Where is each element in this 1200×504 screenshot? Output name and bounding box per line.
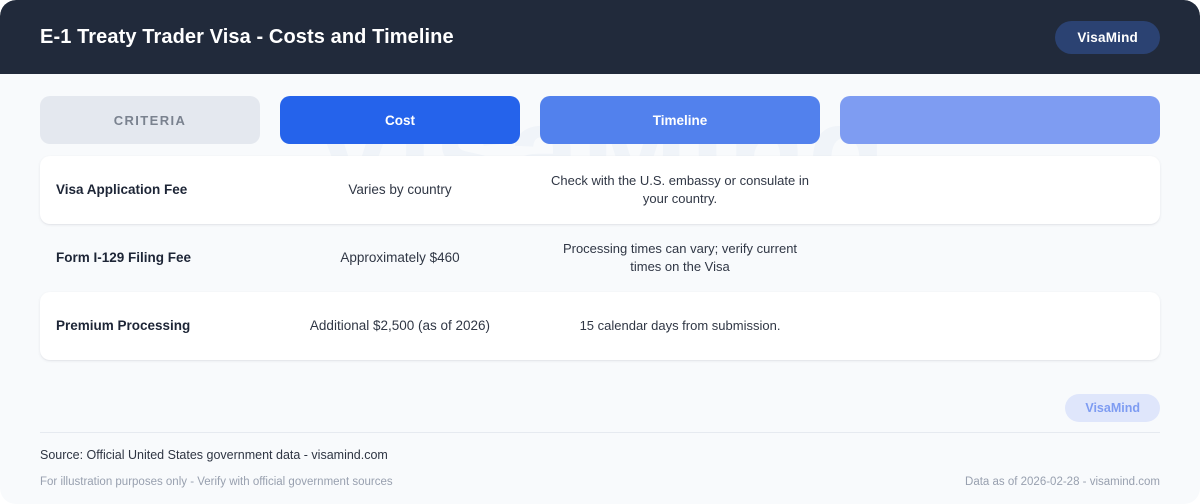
cell-timeline: Check with the U.S. embassy or consulate… — [540, 162, 820, 218]
column-header-timeline[interactable]: Timeline — [540, 96, 820, 144]
column-header-extra-label — [840, 96, 1160, 144]
footer-divider — [40, 432, 1160, 433]
column-header-timeline-label: Timeline — [540, 96, 820, 144]
cell-timeline: Processing times can vary; verify curren… — [540, 230, 820, 286]
table-row: Form I-129 Filing Fee Approximately $460… — [40, 224, 1160, 292]
footer-source-text: Source: Official United States governmen… — [40, 448, 1160, 462]
cell-timeline: 15 calendar days from submission. — [540, 298, 820, 354]
cell-criteria: Visa Application Fee — [40, 162, 260, 218]
cell-criteria: Premium Processing — [40, 298, 260, 354]
page-footer: VisaMind Source: Official United States … — [0, 394, 1200, 504]
column-header-criteria[interactable]: CRITERIA — [40, 96, 260, 144]
footer-data-date: Data as of 2026-02-28 - visamind.com — [965, 476, 1160, 488]
table-row: Visa Application Fee Varies by country C… — [40, 156, 1160, 224]
column-header-cost[interactable]: Cost — [280, 96, 520, 144]
cell-extra — [840, 230, 1160, 286]
cell-criteria: Form I-129 Filing Fee — [40, 230, 260, 286]
cell-cost: Additional $2,500 (as of 2026) — [280, 298, 520, 354]
cell-extra — [840, 298, 1160, 354]
cell-cost: Varies by country — [280, 162, 520, 218]
cell-extra — [840, 162, 1160, 218]
visa-comparison-page: VisaMind E-1 Treaty Trader Visa - Costs … — [0, 0, 1200, 504]
column-header-criteria-label: CRITERIA — [40, 96, 260, 144]
table-row: Premium Processing Additional $2,500 (as… — [40, 292, 1160, 360]
footer-badge-row: VisaMind — [40, 394, 1160, 432]
comparison-table: CRITERIA Cost Timeline Visa Application … — [0, 74, 1200, 360]
column-header-cost-label: Cost — [280, 96, 520, 144]
brand-badge: VisaMind — [1055, 21, 1160, 54]
column-header-extra[interactable] — [840, 96, 1160, 144]
page-header: E-1 Treaty Trader Visa - Costs and Timel… — [0, 0, 1200, 74]
footer-brand-badge: VisaMind — [1065, 394, 1160, 422]
table-header-row: CRITERIA Cost Timeline — [40, 96, 1160, 144]
cell-cost: Approximately $460 — [280, 230, 520, 286]
page-title: E-1 Treaty Trader Visa - Costs and Timel… — [40, 26, 454, 49]
footer-bottom-row: For illustration purposes only - Verify … — [40, 476, 1160, 488]
footer-disclaimer: For illustration purposes only - Verify … — [40, 476, 393, 488]
